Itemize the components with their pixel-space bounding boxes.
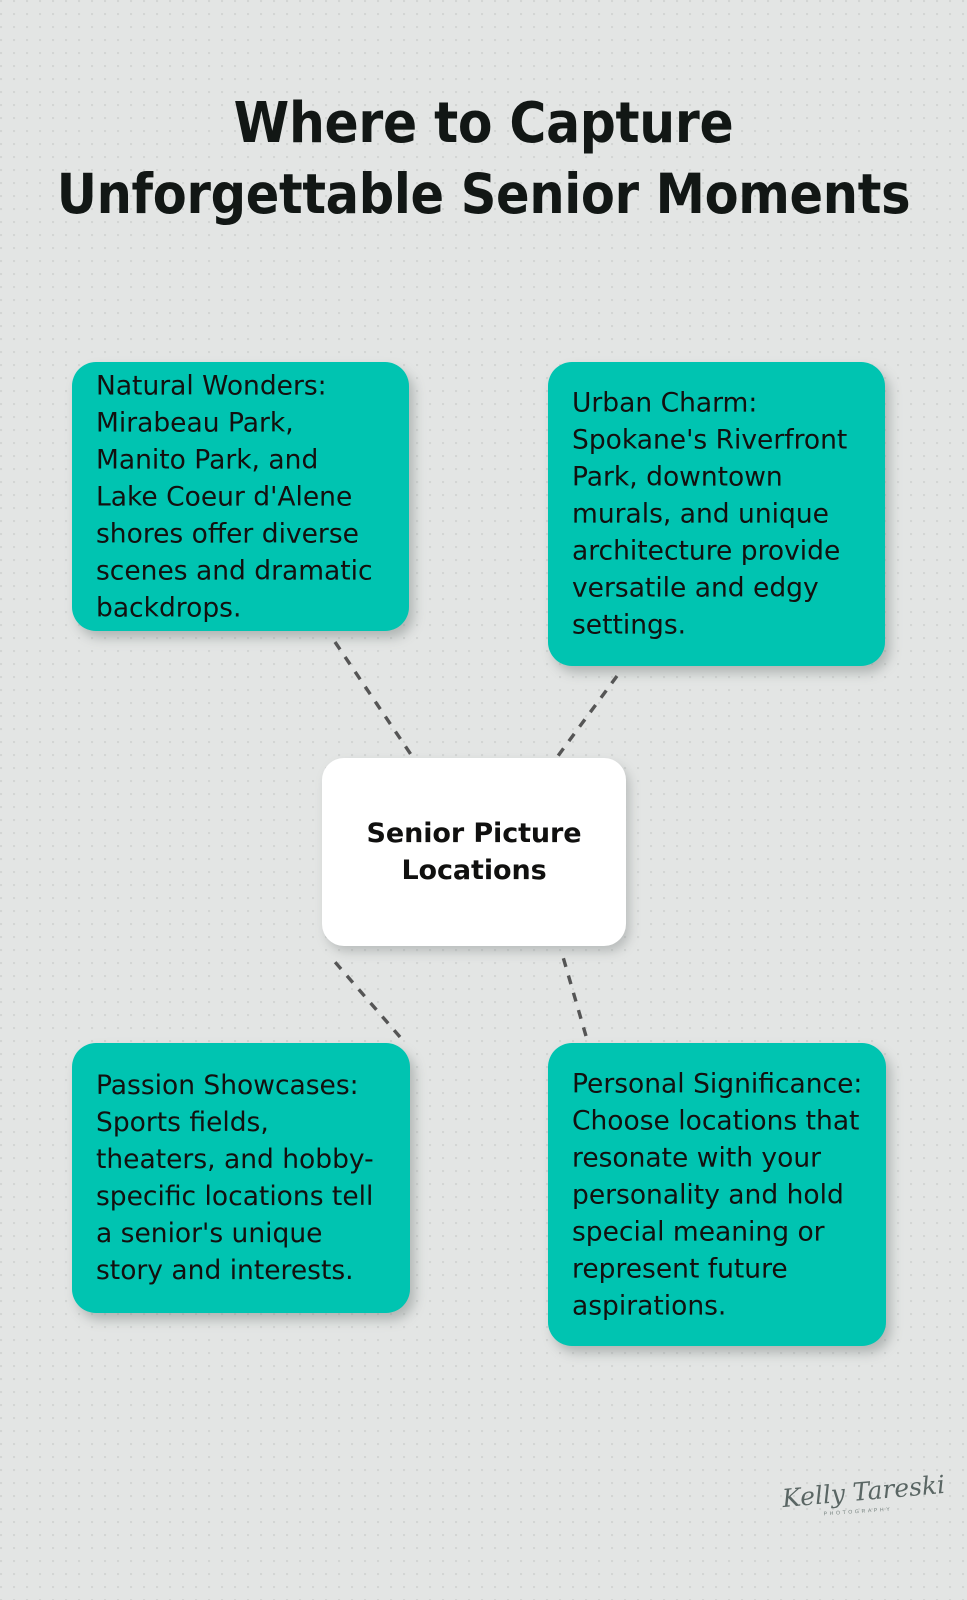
brand-watermark: Kelly Tareski PHOTOGRAPHY [782, 1478, 922, 1530]
infographic-canvas: Where to Capture Unforgettable Senior Mo… [0, 0, 967, 1600]
connector-top-right [552, 676, 617, 764]
center-node-senior-picture-locations[interactable]: Senior Picture Locations [322, 758, 626, 946]
connector-bottom-right [561, 950, 586, 1036]
connector-top-left [335, 642, 416, 762]
page-title-line-1: Where to Capture [0, 88, 967, 159]
card-personal-significance-text: Personal Significance: Choose locations … [572, 1065, 864, 1324]
card-personal-significance[interactable]: Personal Significance: Choose locations … [548, 1043, 886, 1346]
card-urban-charm[interactable]: Urban Charm: Spokane's Riverfront Park, … [548, 362, 885, 666]
card-urban-charm-text: Urban Charm: Spokane's Riverfront Park, … [572, 385, 863, 644]
page-title: Where to Capture Unforgettable Senior Mo… [0, 88, 967, 230]
card-passion-showcases[interactable]: Passion Showcases: Sports fields, theate… [72, 1043, 410, 1313]
center-node-text: Senior Picture Locations [367, 815, 582, 889]
center-node-line-2: Locations [401, 855, 546, 886]
card-passion-showcases-text: Passion Showcases: Sports fields, theate… [96, 1067, 388, 1289]
center-node-line-1: Senior Picture [367, 818, 582, 849]
card-natural-wonders[interactable]: Natural Wonders: Mirabeau Park, Manito P… [72, 362, 409, 631]
card-natural-wonders-text: Natural Wonders: Mirabeau Park, Manito P… [96, 367, 387, 626]
page-title-line-2: Unforgettable Senior Moments [0, 159, 967, 230]
connector-bottom-left [335, 962, 400, 1037]
